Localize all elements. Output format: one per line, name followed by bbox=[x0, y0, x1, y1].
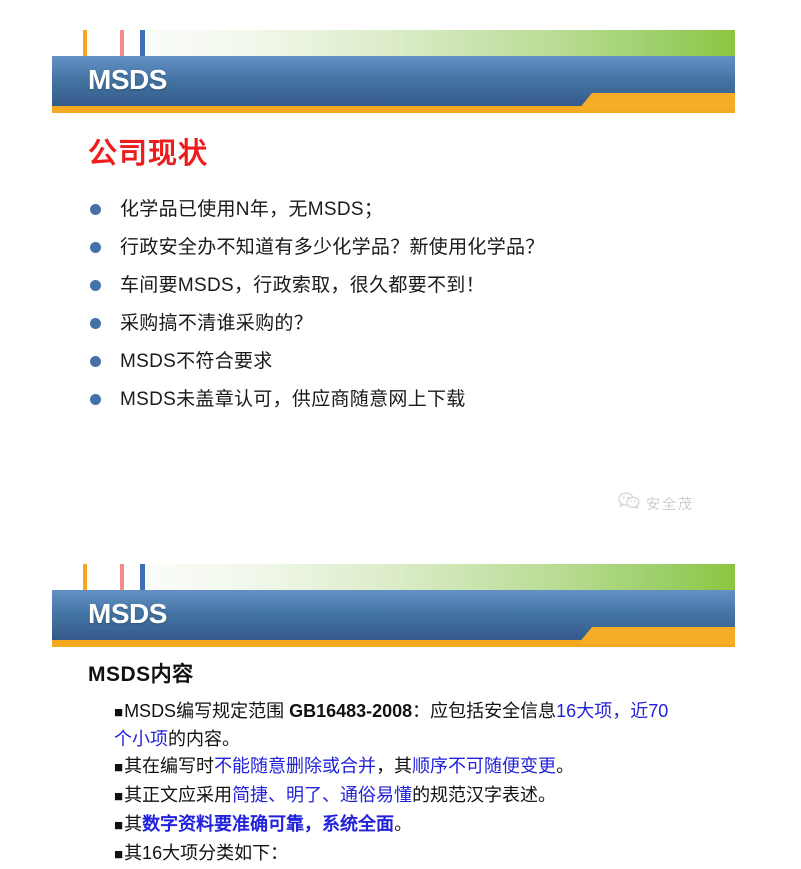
list-item: 化学品已使用N年，无MSDS； bbox=[90, 196, 690, 234]
list-item-label: MSDS未盖章认可，供应商随意网上下载 bbox=[120, 386, 466, 414]
slide-1-orange-wedge bbox=[578, 93, 735, 110]
watermark: 安全茂 bbox=[618, 492, 694, 515]
square-bullet-icon: ■ bbox=[114, 788, 123, 805]
slide-2-headline: MSDS内容 bbox=[88, 658, 194, 688]
wechat-icon bbox=[618, 492, 640, 515]
text-run: 其正文应采用 bbox=[124, 785, 232, 805]
slide-1-title: MSDS bbox=[88, 64, 167, 96]
bullet-dot-icon bbox=[90, 394, 101, 405]
pink-tick-mark bbox=[120, 564, 124, 590]
text-run: 顺序不可随便变更 bbox=[412, 756, 556, 776]
slide-1-bullet-list: 化学品已使用N年，无MSDS； 行政安全办不知道有多少化学品？新使用化学品？ 车… bbox=[90, 196, 690, 424]
watermark-label: 安全茂 bbox=[646, 494, 694, 514]
list-item: ■其数字资料要准确可靠，系统全面。 bbox=[114, 811, 674, 839]
slide-1-headline: 公司现状 bbox=[88, 130, 208, 172]
bullet-dot-icon bbox=[90, 318, 101, 329]
slide-2-title: MSDS bbox=[88, 598, 167, 630]
slide-2-paragraph-list: ■MSDS编写规定范围 GB16483-2008：应包括安全信息16大项，近70… bbox=[114, 698, 674, 869]
list-item-label: 行政安全办不知道有多少化学品？新使用化学品？ bbox=[120, 234, 545, 262]
list-item: 车间要MSDS，行政索取，很久都要不到！ bbox=[90, 272, 690, 310]
text-run: ：应包括安全信息 bbox=[412, 701, 556, 721]
bullet-dot-icon bbox=[90, 242, 101, 253]
text-run: 其 bbox=[124, 814, 142, 834]
orange-tick-mark bbox=[83, 564, 87, 590]
blue-tick-mark bbox=[140, 30, 145, 56]
list-item: MSDS不符合要求 bbox=[90, 348, 690, 386]
text-run: 的内容。 bbox=[168, 729, 240, 749]
square-bullet-icon: ■ bbox=[114, 759, 123, 776]
list-item: 采购搞不清谁采购的？ bbox=[90, 310, 690, 348]
green-gradient-bar bbox=[140, 30, 735, 56]
list-item: ■MSDS编写规定范围 GB16483-2008：应包括安全信息16大项，近70… bbox=[114, 698, 674, 752]
list-item-label: 采购搞不清谁采购的？ bbox=[120, 310, 313, 338]
list-item: ■其在编写时不能随意删除或合并，其顺序不可随便变更。 bbox=[114, 753, 674, 781]
square-bullet-icon: ■ bbox=[114, 704, 123, 721]
green-gradient-bar bbox=[140, 564, 735, 590]
bullet-dot-icon bbox=[90, 280, 101, 291]
list-item: ■其正文应采用简捷、明了、通俗易懂的规范汉字表述。 bbox=[114, 782, 674, 810]
text-run: 简捷、明了、通俗易懂 bbox=[232, 785, 412, 805]
slide-2: MSDS MSDS内容 ■MSDS编写规定范围 GB16483-2008：应包括… bbox=[0, 540, 801, 858]
list-item-label: 车间要MSDS，行政索取，很久都要不到！ bbox=[120, 272, 485, 300]
bullet-dot-icon bbox=[90, 204, 101, 215]
text-run: MSDS编写规定范围 bbox=[124, 701, 289, 721]
list-item-label: MSDS不符合要求 bbox=[120, 348, 273, 376]
blue-tick-mark bbox=[140, 564, 145, 590]
text-run: 其16大项分类如下： bbox=[124, 843, 288, 863]
square-bullet-icon: ■ bbox=[114, 817, 123, 834]
pink-tick-mark bbox=[120, 30, 124, 56]
list-item: 行政安全办不知道有多少化学品？新使用化学品？ bbox=[90, 234, 690, 272]
list-item-label: 化学品已使用N年，无MSDS； bbox=[120, 196, 383, 224]
text-run: 的规范汉字表述。 bbox=[412, 785, 556, 805]
list-item: ■其16大项分类如下： bbox=[114, 840, 674, 868]
text-run: ，其 bbox=[376, 756, 412, 776]
slide-1-decorative-strip bbox=[52, 30, 735, 56]
bullet-dot-icon bbox=[90, 356, 101, 367]
text-run: 不能随意删除或合并 bbox=[214, 756, 376, 776]
list-item: MSDS未盖章认可，供应商随意网上下载 bbox=[90, 386, 690, 424]
slide-2-decorative-strip bbox=[52, 564, 735, 590]
text-run: GB16483-2008 bbox=[289, 701, 412, 721]
slide-1: MSDS 公司现状 化学品已使用N年，无MSDS； 行政安全办不知道有多少化学品… bbox=[0, 0, 801, 540]
square-bullet-icon: ■ bbox=[114, 846, 123, 863]
text-run: 。 bbox=[556, 756, 574, 776]
text-run: 其在编写时 bbox=[124, 756, 214, 776]
text-run: 。 bbox=[394, 814, 412, 834]
orange-tick-mark bbox=[83, 30, 87, 56]
slide-2-orange-wedge bbox=[578, 627, 735, 644]
text-run: 数字资料要准确可靠，系统全面 bbox=[142, 814, 394, 834]
